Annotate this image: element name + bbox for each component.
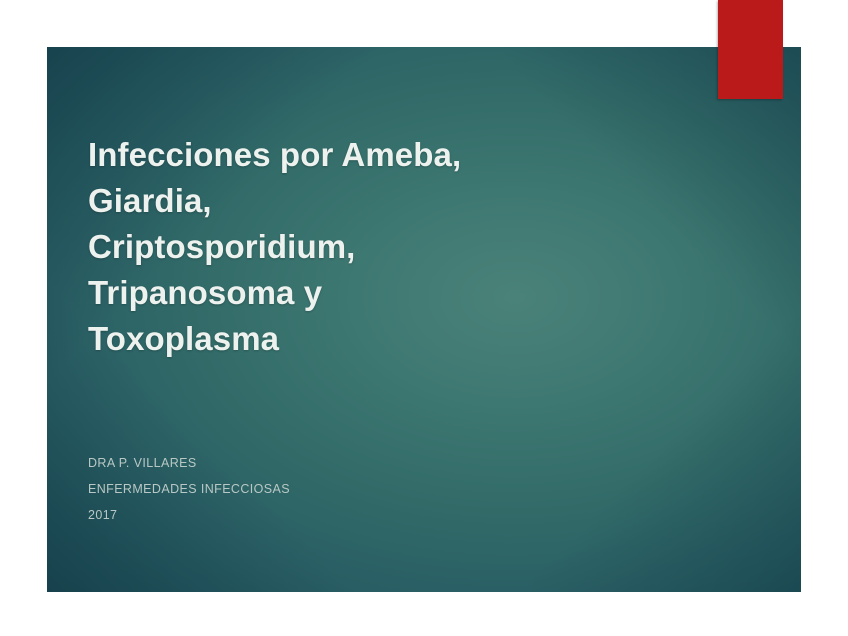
title-line-2: Giardia, [88, 178, 648, 224]
slide-title: Infecciones por Ameba, Giardia, Criptosp… [88, 132, 648, 362]
subtitle-department: ENFERMEDADES INFECCIOSAS [88, 476, 488, 502]
slide-subtitle: DRA P. VILLARES ENFERMEDADES INFECCIOSAS… [88, 450, 488, 528]
subtitle-author: DRA P. VILLARES [88, 450, 488, 476]
red-accent-rectangle [718, 0, 783, 99]
title-line-5: Toxoplasma [88, 316, 648, 362]
subtitle-year: 2017 [88, 502, 488, 528]
title-line-3: Criptosporidium, [88, 224, 648, 270]
title-line-4: Tripanosoma y [88, 270, 648, 316]
presentation-slide: Infecciones por Ameba, Giardia, Criptosp… [47, 47, 801, 592]
slide-canvas: Infecciones por Ameba, Giardia, Criptosp… [0, 0, 848, 636]
title-line-1: Infecciones por Ameba, [88, 132, 648, 178]
